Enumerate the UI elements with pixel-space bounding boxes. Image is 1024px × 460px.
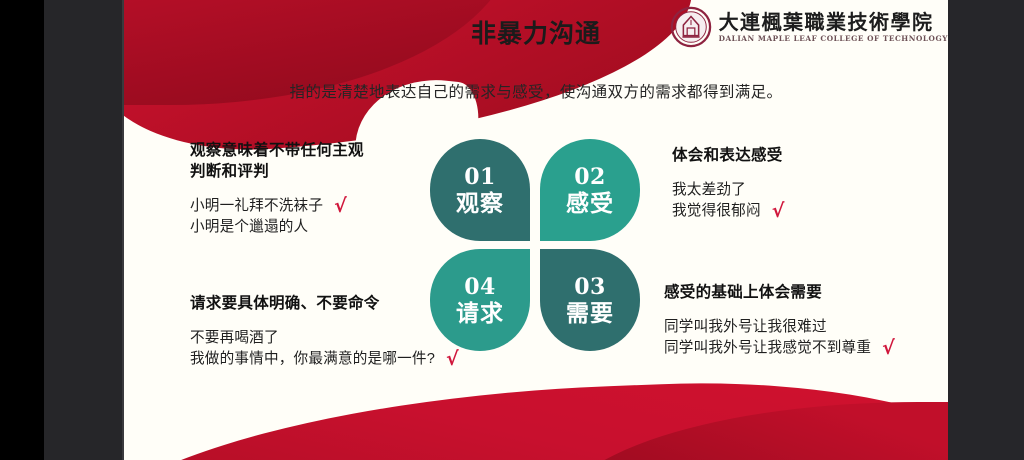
petal-number: 01 xyxy=(464,166,496,188)
block-heading: 体会和表达感受 xyxy=(672,146,785,167)
check-icon: √ xyxy=(882,339,895,358)
block-line: 我做的事情中，你最满意的是哪一件? √ xyxy=(190,349,459,370)
block-body: 我太差劲了 我觉得很郁闷 √ xyxy=(672,180,785,221)
block-line: 我觉得很郁闷 √ xyxy=(672,201,785,222)
university-logo: 大連楓葉職業技術學院 DALIAN MAPLE LEAF COLLEGE OF … xyxy=(670,6,948,48)
line-text: 同学叫我外号让我很难过 xyxy=(664,317,827,338)
line-text: 我觉得很郁闷 xyxy=(672,201,761,222)
four-petal-diagram: 01 观察 02 感受 04 请求 03 需要 xyxy=(430,139,640,351)
line-text: 不要再喝酒了 xyxy=(190,328,279,349)
block-line: 不要再喝酒了 xyxy=(190,328,459,349)
logo-name-cn: 大連楓葉職業技術學院 xyxy=(719,12,948,32)
block-body: 不要再喝酒了 我做的事情中，你最满意的是哪一件? √ xyxy=(190,328,459,369)
text-block-top-left: 观察意味着不带任何主观 判断和评判 小明一礼拜不洗袜子 √ 小明是个邋遢的人 xyxy=(190,141,364,237)
check-icon: √ xyxy=(772,202,785,221)
block-line: 同学叫我外号让我很难过 xyxy=(664,317,895,338)
petal-observation[interactable]: 01 观察 xyxy=(430,139,530,241)
block-body: 同学叫我外号让我很难过 同学叫我外号让我感觉不到尊重 √ xyxy=(664,317,895,358)
line-text: 我太差劲了 xyxy=(672,180,746,201)
presentation-slide: 非暴力沟通 大連楓葉職業技術學院 DALIAN MAPLE LEAF COLLE… xyxy=(124,0,948,460)
petal-number: 03 xyxy=(574,276,606,298)
block-line: 同学叫我外号让我感觉不到尊重 √ xyxy=(664,338,895,359)
slide-subtitle: 指的是清楚地表达自己的需求与感受，使沟通双方的需求都得到满足。 xyxy=(124,80,948,102)
line-text: 我做的事情中，你最满意的是哪一件? xyxy=(190,349,435,370)
letterbox-bar-left-grey xyxy=(44,0,124,460)
logo-text-group: 大連楓葉職業技術學院 DALIAN MAPLE LEAF COLLEGE OF … xyxy=(719,12,948,42)
block-heading: 感受的基础上体会需要 xyxy=(664,283,895,304)
text-block-bottom-left: 请求要具体明确、不要命令 不要再喝酒了 我做的事情中，你最满意的是哪一件? √ xyxy=(190,294,459,369)
check-icon: √ xyxy=(446,350,459,369)
block-line: 我太差劲了 xyxy=(672,180,785,201)
check-icon: √ xyxy=(334,197,347,216)
petal-label: 观察 xyxy=(456,192,504,215)
screenshot-stage: 非暴力沟通 大連楓葉職業技術學院 DALIAN MAPLE LEAF COLLE… xyxy=(0,0,1024,460)
petal-label: 需要 xyxy=(566,302,614,325)
block-heading: 观察意味着不带任何主观 判断和评判 xyxy=(190,141,364,183)
text-block-top-right: 体会和表达感受 我太差劲了 我觉得很郁闷 √ xyxy=(672,146,785,221)
petal-need[interactable]: 03 需要 xyxy=(540,249,640,351)
petal-label: 感受 xyxy=(566,192,614,215)
line-text: 小明一礼拜不洗袜子 xyxy=(190,196,323,217)
logo-name-en: DALIAN MAPLE LEAF COLLEGE OF TECHNOLOGY xyxy=(719,35,948,42)
petal-feeling[interactable]: 02 感受 xyxy=(540,139,640,241)
letterbox-bar-right-grey xyxy=(948,0,1024,460)
line-text: 同学叫我外号让我感觉不到尊重 xyxy=(664,338,871,359)
petal-number: 04 xyxy=(464,276,496,298)
university-seal-icon xyxy=(670,6,712,48)
letterbox-bar-left-black xyxy=(0,0,44,460)
petal-number: 02 xyxy=(574,166,606,188)
block-line: 小明一礼拜不洗袜子 √ xyxy=(190,196,364,217)
block-body: 小明一礼拜不洗袜子 √ 小明是个邋遢的人 xyxy=(190,196,364,237)
petal-label: 请求 xyxy=(456,302,504,325)
block-heading: 请求要具体明确、不要命令 xyxy=(190,294,459,315)
line-text: 小明是个邋遢的人 xyxy=(190,217,308,238)
block-line: 小明是个邋遢的人 xyxy=(190,217,364,238)
text-block-bottom-right: 感受的基础上体会需要 同学叫我外号让我很难过 同学叫我外号让我感觉不到尊重 √ xyxy=(664,283,895,358)
